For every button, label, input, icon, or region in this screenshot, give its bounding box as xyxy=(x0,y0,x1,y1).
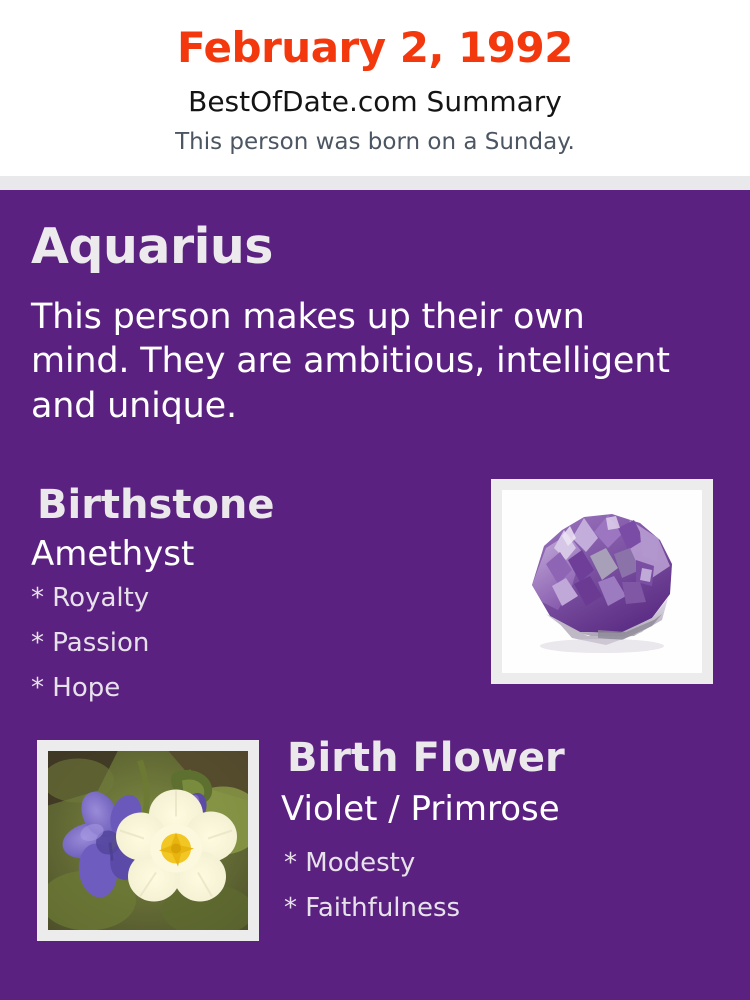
birthstone-image-frame xyxy=(491,479,713,684)
header: February 2, 1992 BestOfDate.com Summary … xyxy=(0,0,750,176)
birthflower-name: Violet / Primrose xyxy=(281,792,560,826)
summary-card: February 2, 1992 BestOfDate.com Summary … xyxy=(0,0,750,1000)
content-panel: Aquarius This person makes up their own … xyxy=(0,190,750,1000)
zodiac-sign-title: Aquarius xyxy=(31,222,273,271)
amethyst-crystal-icon xyxy=(502,490,702,673)
list-item: * Faithfulness xyxy=(284,895,460,921)
list-item: * Passion xyxy=(31,630,149,656)
birthflower-image xyxy=(48,751,248,930)
site-name: BestOfDate.com Summary xyxy=(0,88,750,116)
birthflower-image-frame xyxy=(37,740,259,941)
header-divider xyxy=(0,176,750,190)
list-item: * Hope xyxy=(31,675,149,701)
birthstone-heading: Birthstone xyxy=(37,485,275,525)
zodiac-description: This person makes up their own mind. The… xyxy=(31,295,681,428)
page-title: February 2, 1992 xyxy=(0,27,750,69)
birth-day-note: This person was born on a Sunday. xyxy=(0,131,750,154)
birthstone-name: Amethyst xyxy=(31,537,194,571)
list-item: * Royalty xyxy=(31,585,149,611)
violet-primrose-icon xyxy=(48,751,248,930)
birthstone-trait-list: * Royalty * Passion * Hope xyxy=(31,585,149,720)
birthflower-heading: Birth Flower xyxy=(287,738,565,778)
birthflower-trait-list: * Modesty * Faithfulness xyxy=(284,850,460,940)
list-item: * Modesty xyxy=(284,850,460,876)
birthstone-image xyxy=(502,490,702,673)
